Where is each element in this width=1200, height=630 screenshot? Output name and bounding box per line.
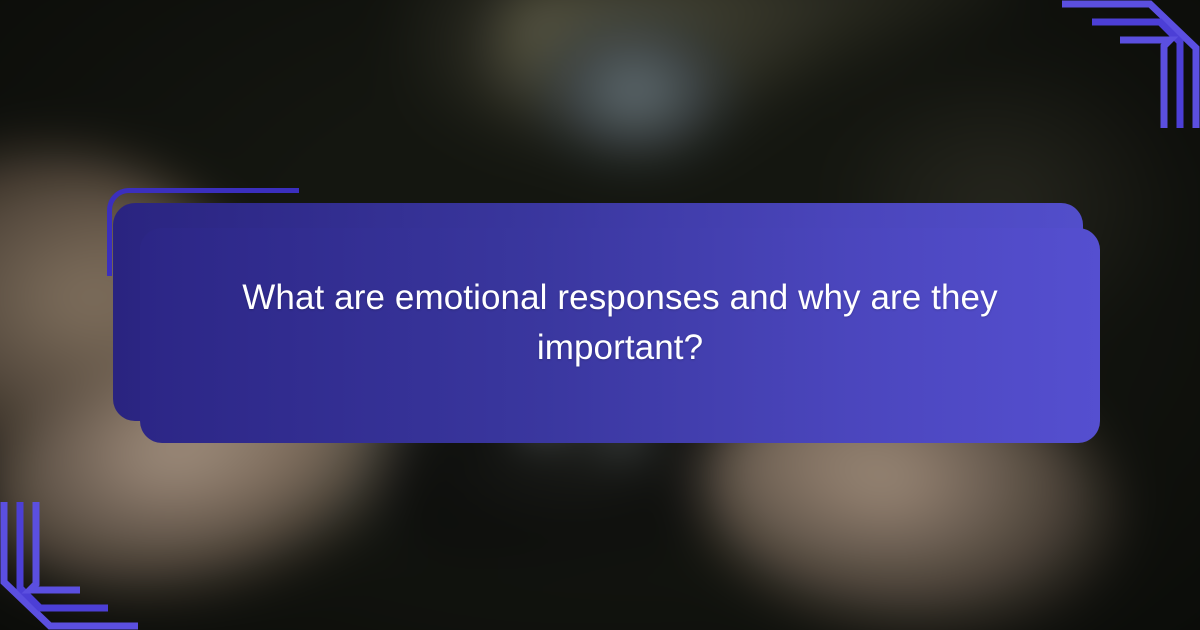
- social-card-canvas: What are emotional responses and why are…: [0, 0, 1200, 630]
- page-title: What are emotional responses and why are…: [140, 203, 1100, 443]
- chamfered-corner-lines-icon-bottom-left: [0, 500, 200, 630]
- chamfered-corner-lines-icon-top-right: [1000, 0, 1200, 130]
